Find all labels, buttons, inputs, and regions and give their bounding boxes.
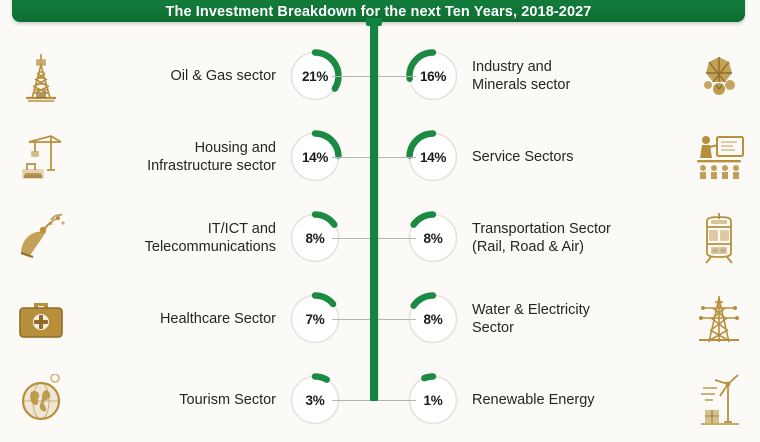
sector-entry-left: Oil & Gas sector 21% <box>0 34 370 118</box>
train-icon <box>688 207 750 269</box>
sector-label: Housing andInfrastructure sector <box>147 139 276 175</box>
infographic-root: The Investment Breakdown for the next Te… <box>0 0 760 440</box>
sector-entry-right: Renewable Energy 1% <box>378 358 760 442</box>
connector-line <box>378 157 416 158</box>
sector-entry-right: Industry andMinerals sector 16% <box>378 34 760 118</box>
satellite-dish-icon <box>10 207 72 269</box>
sector-label-line1: Service Sectors <box>472 148 574 166</box>
connector-line <box>332 76 370 77</box>
sector-label: Service Sectors <box>472 148 574 166</box>
sector-label-line2: Minerals sector <box>472 76 570 94</box>
sector-label-line1: Renewable Energy <box>472 391 595 409</box>
sector-entry-left: Housing andInfrastructure sector 14% <box>0 115 370 199</box>
connector-line <box>378 76 416 77</box>
sector-label-line1: Healthcare Sector <box>160 310 276 328</box>
sector-label-line2: Sector <box>472 319 590 337</box>
sector-label: Healthcare Sector <box>160 310 276 328</box>
sector-label: IT/ICT andTelecommunications <box>145 220 276 256</box>
connector-line <box>332 238 370 239</box>
sector-label: Oil & Gas sector <box>170 67 276 85</box>
sector-entry-left: IT/ICT andTelecommunications 8% <box>0 196 370 280</box>
oil-derrick-icon <box>10 45 72 107</box>
sector-row: Housing andInfrastructure sector 14% <box>0 115 760 199</box>
sector-entry-left: Healthcare Sector 7% <box>0 277 370 361</box>
electricity-pylon-icon <box>688 288 750 350</box>
construction-crane-icon <box>10 126 72 188</box>
sector-row: IT/ICT andTelecommunications 8% Transpor… <box>0 196 760 280</box>
connector-line <box>378 319 416 320</box>
sector-row: Tourism Sector 3% Renewable Energy <box>0 358 760 442</box>
sector-entry-right: Service Sectors 14% <box>378 115 760 199</box>
sector-label-line1: IT/ICT and <box>145 220 276 238</box>
sector-label-line1: Industry and <box>472 58 570 76</box>
sector-entry-left: Tourism Sector 3% <box>0 358 370 442</box>
sector-row: Healthcare Sector 7% Water & Electricity… <box>0 277 760 361</box>
wind-turbine-icon <box>688 369 750 431</box>
medical-bag-icon <box>10 288 72 350</box>
sector-label: Renewable Energy <box>472 391 595 409</box>
connector-line <box>332 319 370 320</box>
sector-label: Water & ElectricitySector <box>472 301 590 337</box>
connector-line <box>378 238 416 239</box>
sector-label-line2: Infrastructure sector <box>147 157 276 175</box>
sector-label-line1: Housing and <box>147 139 276 157</box>
connector-line <box>332 400 370 401</box>
sector-label-line1: Water & Electricity <box>472 301 590 319</box>
connector-line <box>378 400 416 401</box>
sector-row: Oil & Gas sector 21% Industry andMineral… <box>0 34 760 118</box>
sector-label-line2: (Rail, Road & Air) <box>472 238 611 256</box>
sector-entry-right: Transportation Sector(Rail, Road & Air) … <box>378 196 760 280</box>
sector-label: Tourism Sector <box>179 391 276 409</box>
presentation-training-icon <box>688 126 750 188</box>
sector-label-line1: Oil & Gas sector <box>170 67 276 85</box>
sector-label: Transportation Sector(Rail, Road & Air) <box>472 220 611 256</box>
sector-entry-right: Water & ElectricitySector 8% <box>378 277 760 361</box>
sector-label-line2: Telecommunications <box>145 238 276 256</box>
connector-line <box>332 157 370 158</box>
sector-label: Industry andMinerals sector <box>472 58 570 94</box>
sector-label-line1: Tourism Sector <box>179 391 276 409</box>
sector-label-line1: Transportation Sector <box>472 220 611 238</box>
minerals-ore-icon <box>688 45 750 107</box>
globe-icon <box>10 369 72 431</box>
